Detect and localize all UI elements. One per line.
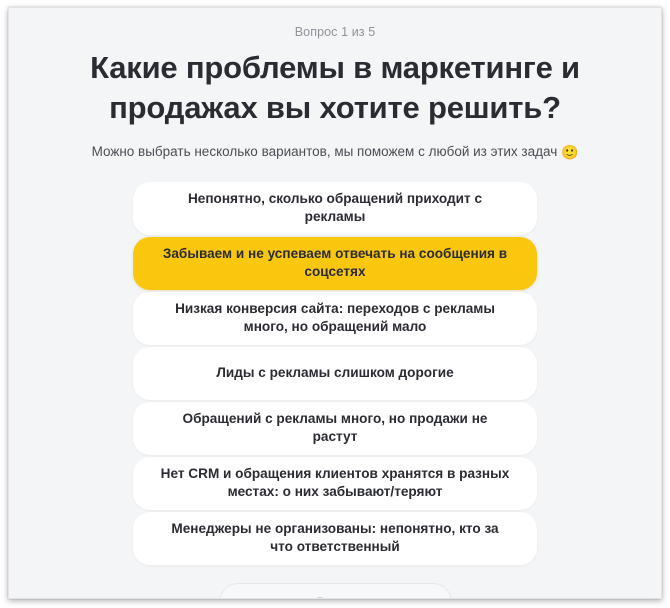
page-title: Какие проблемы в маркетинге и продажах в… [55,48,615,130]
answer-option[interactable]: Лиды с рекламы слишком дорогие [133,347,537,400]
subtitle-text: Можно выбрать несколько вариантов, мы по… [92,144,558,159]
next-button[interactable]: Далее [219,583,452,600]
answer-option[interactable]: Низкая конверсия сайта: переходов с рекл… [133,292,537,345]
subtitle: Можно выбрать несколько вариантов, мы по… [35,143,635,161]
answer-option[interactable]: Менеджеры не организованы: непонятно, кт… [133,512,537,565]
step-counter: Вопрос 1 из 5 [295,26,376,39]
answer-option[interactable]: Забываем и не успеваем отвечать на сообщ… [133,237,537,290]
quiz-survey-card: Вопрос 1 из 5 Какие проблемы в маркетинг… [8,7,662,599]
screenshot-frame: Вопрос 1 из 5 Какие проблемы в маркетинг… [0,0,670,608]
smiling-face-icon: 🙂 [561,144,578,160]
answer-option[interactable]: Нет CRM и обращения клиентов хранятся в … [133,457,537,510]
footer-actions: Далее [133,583,537,600]
answer-option[interactable]: Непонятно, сколько обращений приходит с … [133,182,537,235]
answer-options-list: Непонятно, сколько обращений приходит с … [133,182,537,565]
answer-option[interactable]: Обращений с рекламы много, но продажи не… [133,402,537,455]
